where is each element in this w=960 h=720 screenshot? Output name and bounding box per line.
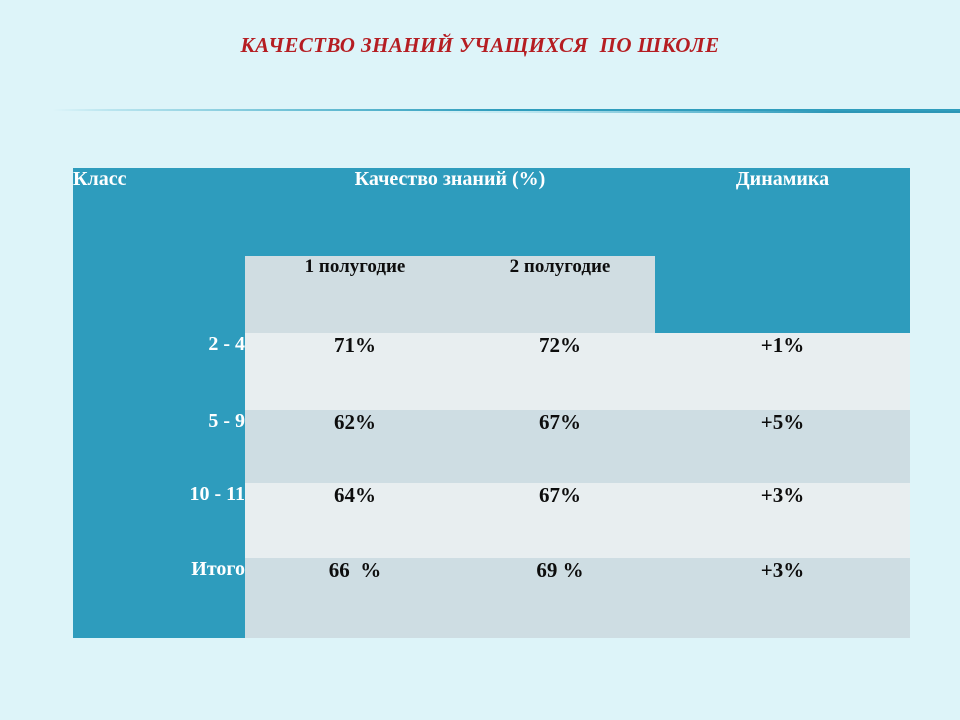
decorative-divider — [0, 104, 960, 116]
divider-line-lower — [0, 111, 960, 113]
row-label-class: 10 - 11 — [73, 483, 245, 558]
cell-second-half: 67% — [465, 410, 655, 483]
row-label-class: 5 - 9 — [73, 410, 245, 483]
cell-second-half: 72% — [465, 333, 655, 410]
row-label-class: 2 - 4 — [73, 333, 245, 410]
cell-first-half: 62% — [245, 410, 465, 483]
cell-dynamics: +5% — [655, 410, 910, 483]
table-row: 5 - 9 62% 67% +5% — [73, 410, 910, 483]
header-second-half: 2 полугодие — [465, 256, 655, 333]
table-row-total: Итого 66 % 69 % +3% — [73, 558, 910, 638]
row-label-total: Итого — [73, 558, 245, 638]
cell-first-half: 71% — [245, 333, 465, 410]
header-first-half: 1 полугодие — [245, 256, 465, 333]
cell-dynamics: +3% — [655, 483, 910, 558]
page-title: КАЧЕСТВО ЗНАНИЙ УЧАЩИХСЯ ПО ШКОЛЕ — [0, 33, 960, 58]
table-row: 2 - 4 71% 72% +1% — [73, 333, 910, 410]
table-row: 10 - 11 64% 67% +3% — [73, 483, 910, 558]
header-quality-of-knowledge: Качество знаний (%) — [245, 168, 655, 256]
quality-of-knowledge-table: Класс Качество знаний (%) Динамика 1 пол… — [73, 168, 910, 638]
cell-second-half: 69 % — [465, 558, 655, 638]
cell-dynamics: +3% — [655, 558, 910, 638]
cell-dynamics: +1% — [655, 333, 910, 410]
header-class: Класс — [73, 168, 245, 333]
table-header-row-primary: Класс Качество знаний (%) Динамика — [73, 168, 910, 256]
header-dynamics: Динамика — [655, 168, 910, 333]
cell-first-half: 64% — [245, 483, 465, 558]
cell-first-half: 66 % — [245, 558, 465, 638]
cell-second-half: 67% — [465, 483, 655, 558]
